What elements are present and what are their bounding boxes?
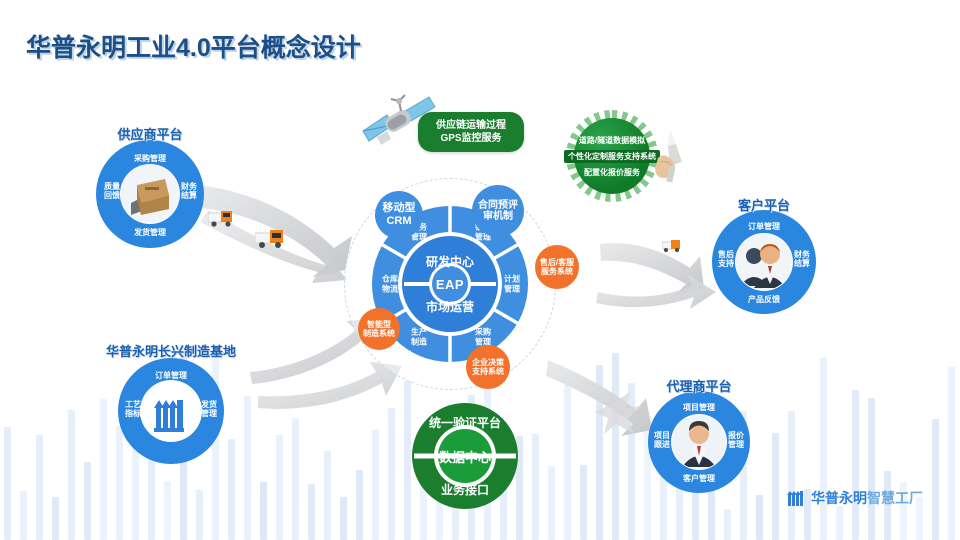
truck-icon xyxy=(662,238,684,253)
logo-text: 华普永明智慧工厂 xyxy=(811,488,923,508)
background-bar xyxy=(596,365,603,540)
background-bar xyxy=(356,470,363,540)
center-inner-top-label: 研发中心 xyxy=(426,253,474,270)
background-bar xyxy=(580,465,587,540)
bubble-contract-pre-review[interactable]: 合同预评审机制 xyxy=(472,185,524,237)
supplier-label-top: 采购管理 xyxy=(134,154,166,163)
factory-logo-icon xyxy=(786,488,806,508)
customization-line3: 配置化报价服务 xyxy=(584,167,640,178)
customer-label-left: 售后支持 xyxy=(718,250,734,268)
background-bar xyxy=(20,491,27,540)
segment-label-plan: 计划管理 xyxy=(504,274,520,293)
background-bar xyxy=(788,411,795,540)
brand-logo: 华普永明智慧工厂 xyxy=(786,488,923,508)
package-box-icon xyxy=(121,165,179,223)
customization-line1: 道路/隧道数据模拟 xyxy=(579,135,645,146)
background-bar xyxy=(612,353,619,540)
agent-platform[interactable]: 项目管理 项目跟进 报价管理 客户管理 xyxy=(648,391,750,493)
segment-label-warehouse: 仓库物流 xyxy=(382,274,398,293)
customer-platform-title: 客户平台 xyxy=(738,195,790,214)
data-center-label-bottom: 业务接口 xyxy=(441,481,489,498)
background-bar xyxy=(756,495,763,540)
background-bar xyxy=(948,367,955,540)
background-bar xyxy=(404,381,411,540)
gps-service-pill[interactable]: 供应链运输过程 GPS监控服务 xyxy=(418,112,524,152)
customer-platform[interactable]: 订单管理 售后支持 财务结算 产品反馈 xyxy=(712,210,816,314)
background-bar xyxy=(372,430,379,540)
background-bar xyxy=(868,398,875,540)
customization-line2: 个性化定制服务支持系统 xyxy=(564,150,660,163)
supplier-label-left: 质量回馈 xyxy=(104,182,120,200)
segment-label-purchase: 采购管理 xyxy=(475,327,491,346)
bubble-mobile-crm[interactable]: 移动型CRM xyxy=(375,191,423,239)
background-bar xyxy=(628,383,635,540)
arrow-center-to-customer xyxy=(600,243,704,296)
background-bar xyxy=(820,358,827,540)
agent-label-top: 项目管理 xyxy=(683,403,715,412)
factory-icon xyxy=(142,382,200,440)
background-bar xyxy=(228,439,235,540)
background-bar xyxy=(388,408,395,540)
customer-label-top: 订单管理 xyxy=(748,222,780,231)
background-bar xyxy=(52,497,59,540)
agent-platform-title: 代理商平台 xyxy=(666,376,731,395)
agent-label-left: 项目跟进 xyxy=(654,431,670,449)
base-label-right: 发货管理 xyxy=(201,400,217,418)
agent-label-bottom: 客户管理 xyxy=(683,474,715,483)
supplier-label-bottom: 发货管理 xyxy=(134,228,166,237)
background-bar xyxy=(244,396,251,540)
base-label-left: 工艺指标 xyxy=(125,400,141,418)
eap-core[interactable]: EAP xyxy=(432,266,468,302)
manufacturing-base[interactable]: 订单管理 工艺指标 发货管理 xyxy=(118,358,224,464)
base-label-top: 订单管理 xyxy=(155,371,187,380)
background-bar xyxy=(324,451,331,540)
background-bar xyxy=(84,462,91,540)
center-inner-bottom-label: 市场运营 xyxy=(426,298,474,315)
two-people-icon xyxy=(736,234,792,290)
background-bar xyxy=(836,506,843,540)
manufacturing-base-title: 华普永明长兴制造基地 xyxy=(106,341,236,360)
segment-label-production: 生产制造 xyxy=(411,327,427,346)
hand-light-icon xyxy=(648,128,694,186)
background-bar xyxy=(724,509,731,540)
background-bar xyxy=(212,348,219,540)
background-bar xyxy=(36,435,43,540)
agent-label-right: 报价管理 xyxy=(728,431,744,449)
logo-brand: 华普永明 xyxy=(811,490,867,506)
background-bar xyxy=(420,487,427,540)
background-bar xyxy=(772,433,779,540)
data-center-label-top: 统一验证平台 xyxy=(429,414,501,431)
background-bar xyxy=(260,482,267,540)
gps-line1: 供应链运输过程 xyxy=(436,120,506,131)
supplier-platform[interactable]: 采购管理 质量回馈 财务结算 发货管理 xyxy=(96,140,204,248)
customer-label-right: 财务结算 xyxy=(794,250,810,268)
background-bar xyxy=(68,410,75,540)
bubble-enterprise-decision-support-system[interactable]: 企业决策支持系统 xyxy=(466,345,510,389)
truck-icon xyxy=(255,227,289,249)
bubble-after-sales-service-system[interactable]: 售后/客服服务系统 xyxy=(535,245,579,289)
customer-label-bottom: 产品反馈 xyxy=(748,295,780,304)
background-bar xyxy=(196,490,203,540)
supplier-label-right: 财务结算 xyxy=(181,182,197,200)
page-title: 华普永明工业4.0平台概念设计 xyxy=(26,28,361,64)
background-bar xyxy=(564,384,571,540)
background-bar xyxy=(4,427,11,540)
background-bar xyxy=(852,390,859,540)
customization-service[interactable]: 道路/隧道数据模拟 个性化定制服务支持系统 配置化报价服务 xyxy=(574,118,650,194)
background-bar xyxy=(340,497,347,540)
supplier-platform-title: 供应商平台 xyxy=(117,124,182,143)
background-bar xyxy=(292,418,299,540)
background-bar xyxy=(276,435,283,540)
businessman-icon xyxy=(672,415,726,469)
truck-icon xyxy=(208,208,238,228)
background-bar xyxy=(532,434,539,540)
background-bar xyxy=(308,484,315,540)
background-bar xyxy=(100,399,107,540)
data-center-core[interactable]: 数据中心 xyxy=(438,429,492,483)
background-bar xyxy=(932,419,939,540)
background-bar xyxy=(116,426,123,540)
slide-canvas: 华普永明工业4.0平台概念设计 xyxy=(0,0,960,540)
background-bar xyxy=(548,466,555,540)
bubble-intelligent-manufacturing-system[interactable]: 智能型制造系统 xyxy=(358,308,400,350)
gps-line2: GPS监控服务 xyxy=(440,133,501,144)
logo-sub: 智慧工厂 xyxy=(867,490,923,506)
background-bar xyxy=(164,481,171,540)
